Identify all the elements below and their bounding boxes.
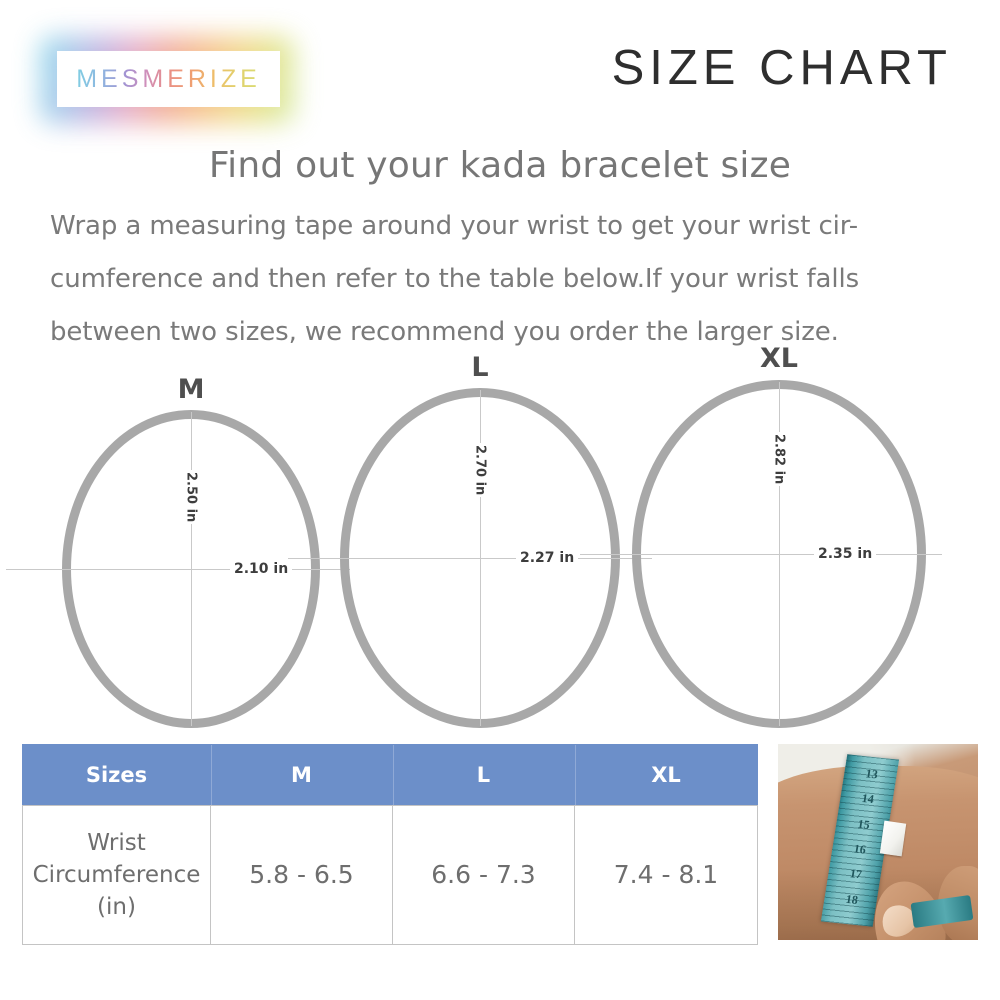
photo-tape-number-18: 18 <box>845 891 859 907</box>
diagram-xl-height-label: 2.82 in <box>771 432 788 486</box>
diagram-l-height-label: 2.70 in <box>472 443 489 497</box>
diagram-xl-horizontal-axis <box>580 554 942 555</box>
table-header-sizes: Sizes <box>23 745 211 806</box>
row-label-line-2: Circumference <box>33 862 201 888</box>
row-label-wrist-circumference: Wrist Circumference (in) <box>23 806 211 945</box>
table-header-row: Sizes M L XL <box>23 745 758 806</box>
diagram-m-horizontal-axis <box>6 569 350 570</box>
cell-wrist-m: 5.8 - 6.5 <box>211 806 393 945</box>
photo-tape-clip <box>880 821 906 857</box>
photo-tape-number-16: 16 <box>853 841 867 857</box>
diagram-xl: XL 2.82 in 2.35 in <box>632 380 926 728</box>
diagram-l: L 2.70 in 2.27 in <box>340 388 620 728</box>
cell-wrist-xl: 7.4 - 8.1 <box>575 806 758 945</box>
brand-logo: MESMERIZE <box>40 36 295 124</box>
diagram-m-height-label: 2.50 in <box>183 470 200 524</box>
table-header-m: M <box>211 745 393 806</box>
diagram-l-size-label: L <box>471 354 488 381</box>
logo-wordmark: MESMERIZE <box>76 65 261 94</box>
cell-wrist-l: 6.6 - 7.3 <box>393 806 575 945</box>
intro-line-1: Wrap a measuring tape around your wrist … <box>50 200 955 253</box>
row-label-line-1: Wrist <box>87 830 146 856</box>
table-header-xl: XL <box>575 745 758 806</box>
table-header-l: L <box>393 745 575 806</box>
logo-plate: MESMERIZE <box>57 51 280 107</box>
intro-line-2: cumference and then refer to the table b… <box>50 253 955 306</box>
photo-tape-number-14: 14 <box>861 791 875 807</box>
table-row: Wrist Circumference (in) 5.8 - 6.5 6.6 -… <box>23 806 758 945</box>
photo-tape-number-17: 17 <box>849 866 863 882</box>
bracelet-diagrams: M 2.50 in 2.10 in L 2.70 in 2.27 in XL 2… <box>0 340 1000 740</box>
row-label-line-3: (in) <box>97 894 136 920</box>
intro-paragraph: Wrap a measuring tape around your wrist … <box>50 200 955 359</box>
diagram-m-width-label: 2.10 in <box>230 561 292 577</box>
photo-tape-number-13: 13 <box>864 766 878 782</box>
diagram-m-size-label: M <box>178 376 205 403</box>
diagram-l-width-label: 2.27 in <box>516 550 578 566</box>
diagram-xl-width-label: 2.35 in <box>814 546 876 562</box>
page-title: SIZE CHART <box>612 44 952 93</box>
wrist-measuring-photo: 13 14 15 16 17 18 <box>778 744 978 940</box>
photo-tape-number-15: 15 <box>857 816 871 832</box>
headline: Find out your kada bracelet size <box>0 145 1000 186</box>
diagram-xl-size-label: XL <box>760 345 798 372</box>
diagram-m: M 2.50 in 2.10 in <box>62 410 320 728</box>
size-table: Sizes M L XL Wrist Circumference (in) 5.… <box>22 744 758 945</box>
diagram-l-horizontal-axis <box>288 558 652 559</box>
